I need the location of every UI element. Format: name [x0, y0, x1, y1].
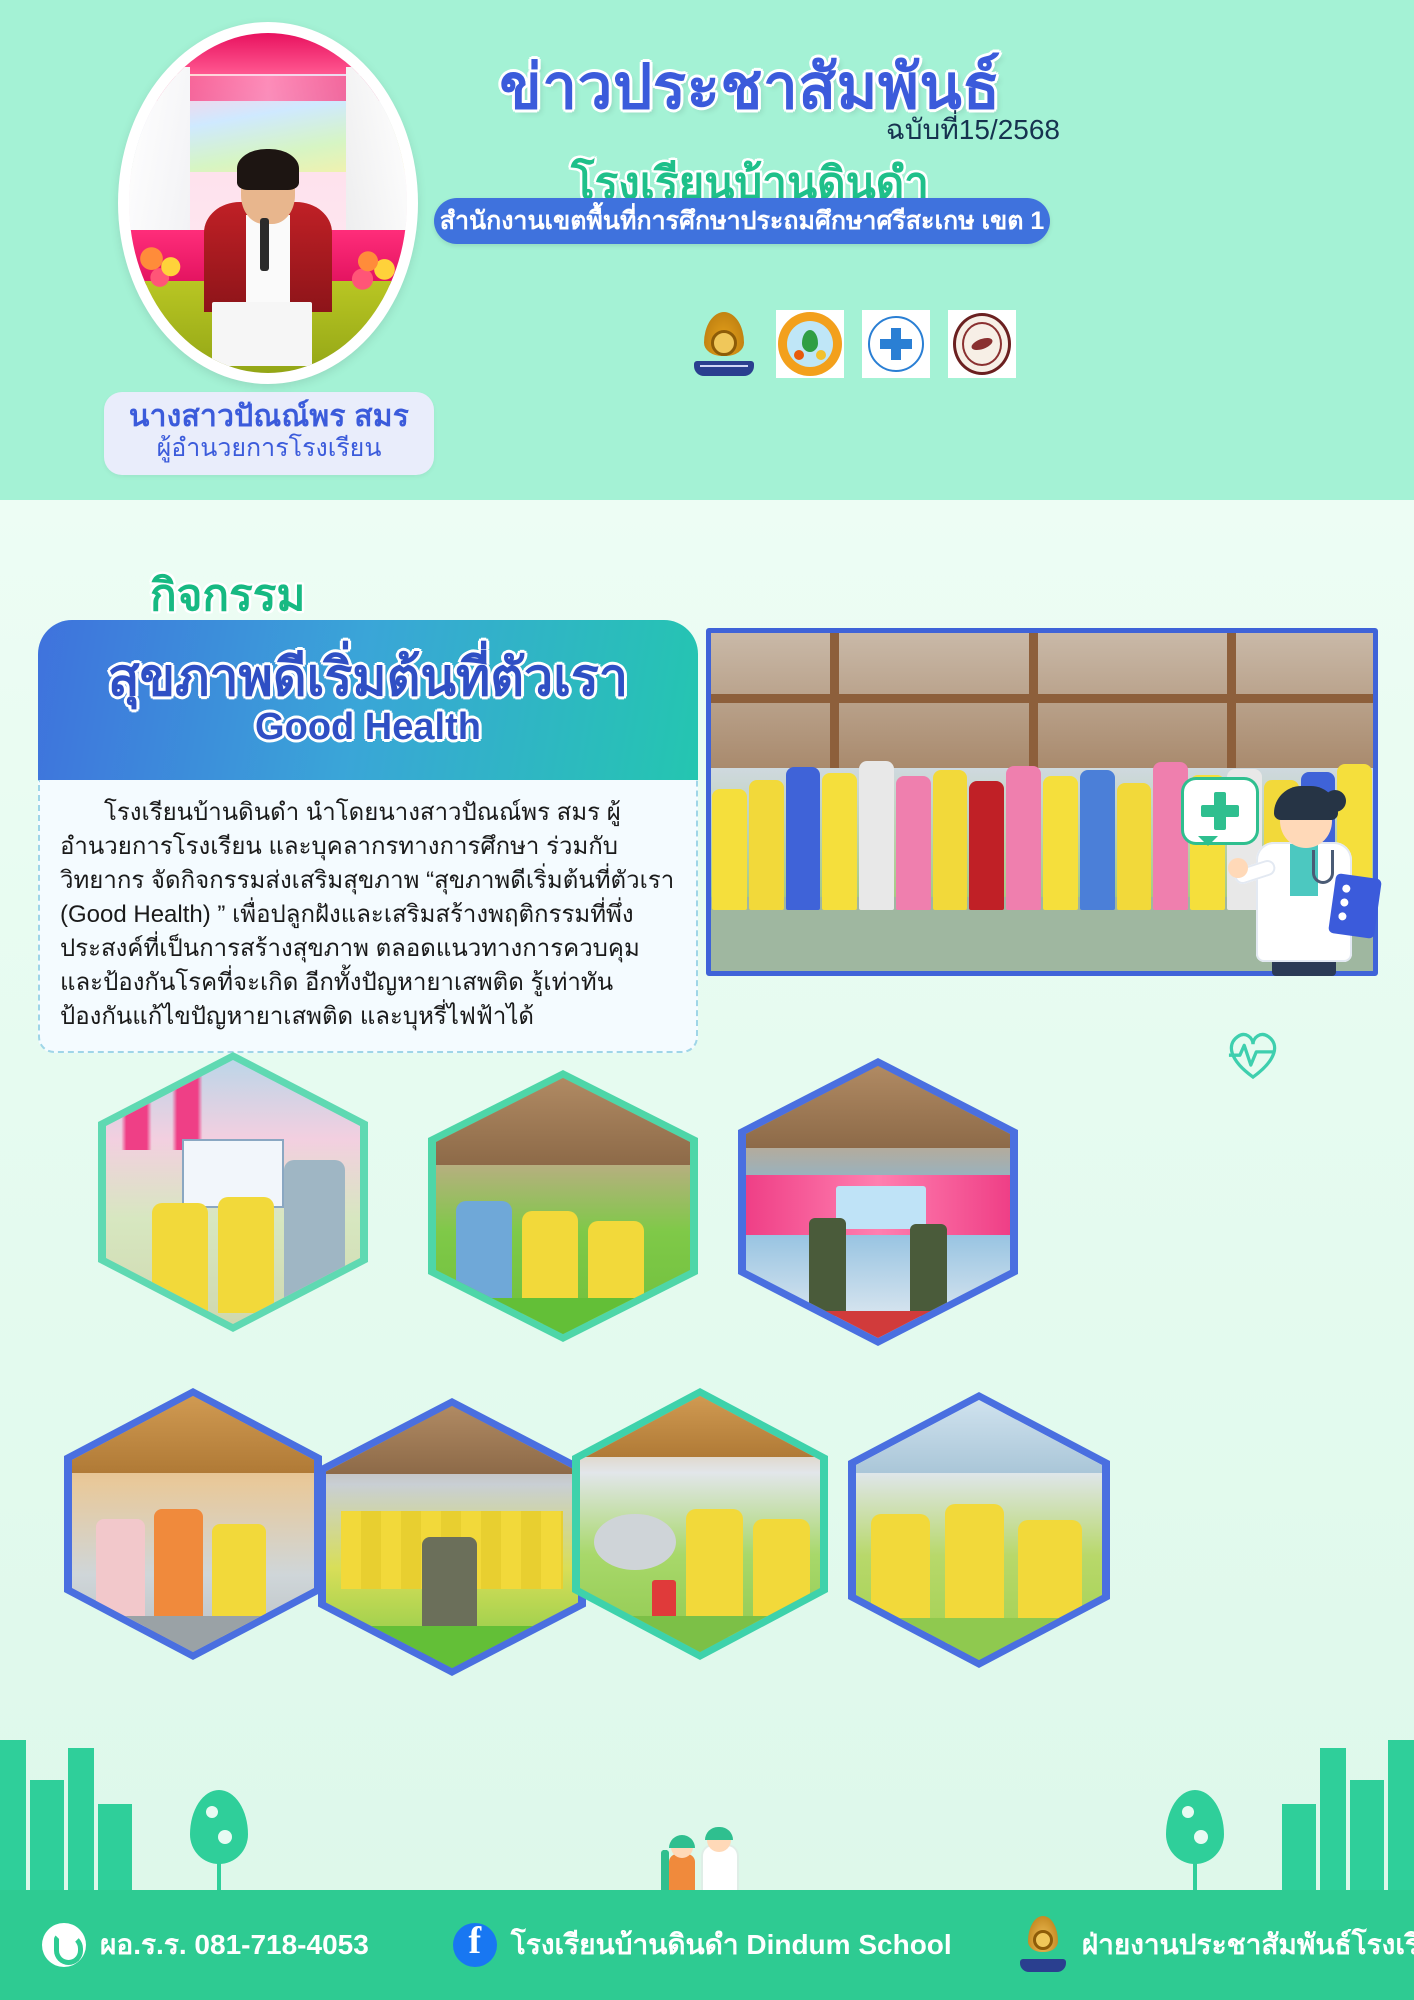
facebook-icon: [453, 1923, 497, 1967]
health-cross-bubble-icon: [1184, 780, 1256, 842]
director-role: ผู้อำนวยการโรงเรียน: [118, 433, 420, 463]
stethoscope-icon: [1312, 850, 1334, 884]
phone-icon: [42, 1923, 86, 1967]
portrait-frame: [118, 22, 418, 384]
director-name: นางสาวปัณณ์พร สมร: [118, 400, 420, 434]
footer-facebook-text: โรงเรียนบ้านดินดำ Dindum School: [511, 1923, 952, 1967]
footer-pr-text: ฝ่ายงานประชาสัมพันธ์โรงเรียน: [1082, 1923, 1414, 1967]
director-name-plate: นางสาวปัณณ์พร สมร ผู้อำนวยการโรงเรียน: [104, 392, 434, 475]
microphone-icon: [260, 218, 269, 271]
doctor-illustration: [1228, 780, 1388, 980]
nutrition-program-logo-icon: [776, 310, 844, 378]
issue-number: ฉบับที่15/2568: [886, 114, 1060, 145]
footer-pr: ฝ่ายงานประชาสัมพันธ์โรงเรียน: [1018, 1916, 1414, 1974]
health-cross-logo-icon: [862, 310, 930, 378]
director-portrait: [118, 22, 418, 384]
activity-description-box: โรงเรียนบ้านดินดำ นำโดยนางสาวปัณณ์พร สมร…: [38, 780, 698, 1053]
activity-title-th: สุขภาพดีเริ่มต้นที่ตัวเรา: [108, 651, 628, 706]
activity-title-banner: สุขภาพดีเริ่มต้นที่ตัวเรา Good Health: [38, 620, 698, 780]
clipboard-icon: [1328, 873, 1382, 939]
office-name: สำนักงานเขตพื้นที่การศึกษาประถมศึกษาศรีส…: [440, 201, 1045, 241]
portrait-photo: [129, 33, 407, 373]
heartbeat-icon: [1218, 1018, 1288, 1088]
issue-number-wrap: ฉบับที่15/2568: [440, 108, 1060, 152]
school-seal-icon: [1018, 1916, 1068, 1974]
flowers-left: [135, 237, 191, 291]
paper-sheet: [212, 302, 312, 367]
logo-row: [690, 308, 1020, 380]
office-bar: สำนักงานเขตพื้นที่การศึกษาประถมศึกษาศรีส…: [434, 198, 1050, 244]
hair: [237, 149, 298, 190]
poster-root: นางสาวปัณณ์พร สมร ผู้อำนวยการโรงเรียน ข่…: [0, 0, 1414, 2000]
footer-bar: ผอ.ร.ร. 081-718-4053 โรงเรียนบ้านดินดำ D…: [0, 1890, 1414, 2000]
activity-title-en: Good Health: [255, 707, 481, 749]
activity-description: โรงเรียนบ้านดินดำ นำโดยนางสาวปัณณ์พร สมร…: [60, 796, 678, 1035]
footer-phone-text: ผอ.ร.ร. 081-718-4053: [100, 1923, 369, 1967]
royal-emblem-logo-icon: [690, 310, 758, 378]
header-band: นางสาวปัณณ์พร สมร ผู้อำนวยการโรงเรียน ข่…: [0, 0, 1414, 500]
flowers-right: [346, 237, 402, 291]
director-figure: [204, 155, 332, 311]
provincial-seal-logo-icon: [948, 310, 1016, 378]
footer-facebook[interactable]: โรงเรียนบ้านดินดำ Dindum School: [453, 1923, 952, 1967]
footer-phone[interactable]: ผอ.ร.ร. 081-718-4053: [42, 1923, 369, 1967]
